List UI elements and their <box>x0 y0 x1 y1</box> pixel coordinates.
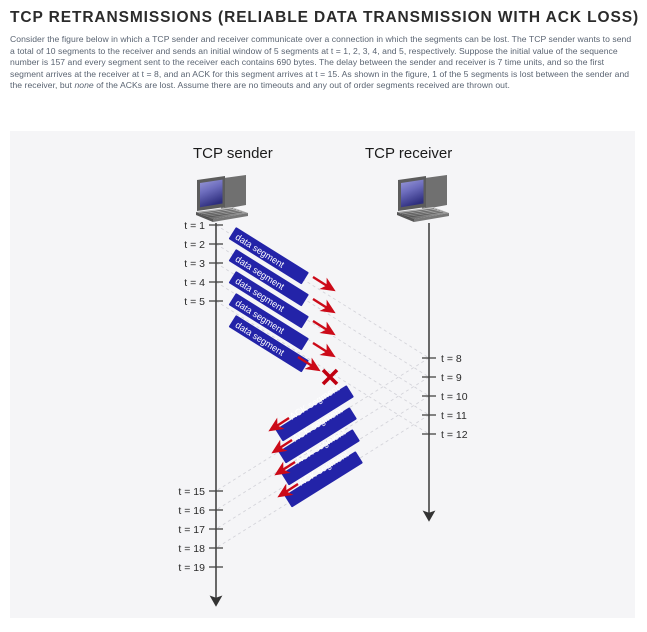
sender-tick-label: t = 1 <box>184 220 205 232</box>
sender-ack-tick-label: t = 18 <box>178 543 205 555</box>
intro-text-suffix: of the ACKs are lost. Assume there are n… <box>94 80 510 90</box>
receiver-tick-label: t = 11 <box>441 410 467 422</box>
figure-panel: TCP sender TCP receiver <box>10 131 635 618</box>
sender-ack-tick-label: t = 17 <box>178 524 205 536</box>
sender-tick-label: t = 5 <box>184 296 205 308</box>
header: TCP RETRANSMISSIONS (RELIABLE DATA TRANS… <box>0 0 647 92</box>
data-segment-arrow <box>313 299 332 311</box>
sender-send-tick-labels: t = 1 t = 2 t = 3 t = 4 t = 5 <box>184 220 205 308</box>
sender-ack-tick-labels: t = 15 t = 16 t = 17 t = 18 t = 19 <box>178 486 205 574</box>
sender-ack-tick-label: t = 19 <box>178 562 205 574</box>
tcp-timeline-diagram: TCP sender TCP receiver <box>10 131 635 618</box>
receiver-title: TCP receiver <box>365 145 452 162</box>
receiver-tick-labels: t = 8 t = 9 t = 10 t = 11 t = 12 <box>441 353 468 441</box>
intro-text-emphasis: none <box>74 80 93 90</box>
sender-tick-label: t = 4 <box>184 277 205 289</box>
data-segment-arrow <box>313 321 332 333</box>
sender-ack-tick-label: t = 15 <box>178 486 205 498</box>
receiver-tick-label: t = 8 <box>441 353 462 365</box>
receiver-timeline <box>422 223 436 516</box>
sender-tick-label: t = 2 <box>184 239 205 251</box>
receiver-tick-label: t = 9 <box>441 372 462 384</box>
sender-title: TCP sender <box>193 145 273 162</box>
data-segment-arrow <box>313 343 332 355</box>
page-title: TCP RETRANSMISSIONS (RELIABLE DATA TRANS… <box>10 8 639 28</box>
intro-paragraph: Consider the figure below in which a TCP… <box>10 34 637 92</box>
sender-tick-label: t = 3 <box>184 258 205 270</box>
sender-timeline <box>209 223 223 601</box>
receiver-tick-label: t = 10 <box>441 391 468 403</box>
receiver-workstation-icon <box>397 175 449 222</box>
sender-ack-tick-label: t = 16 <box>178 505 205 517</box>
data-segment-arrow <box>313 277 332 289</box>
sender-workstation-icon <box>196 175 248 222</box>
receiver-tick-label: t = 12 <box>441 429 468 441</box>
